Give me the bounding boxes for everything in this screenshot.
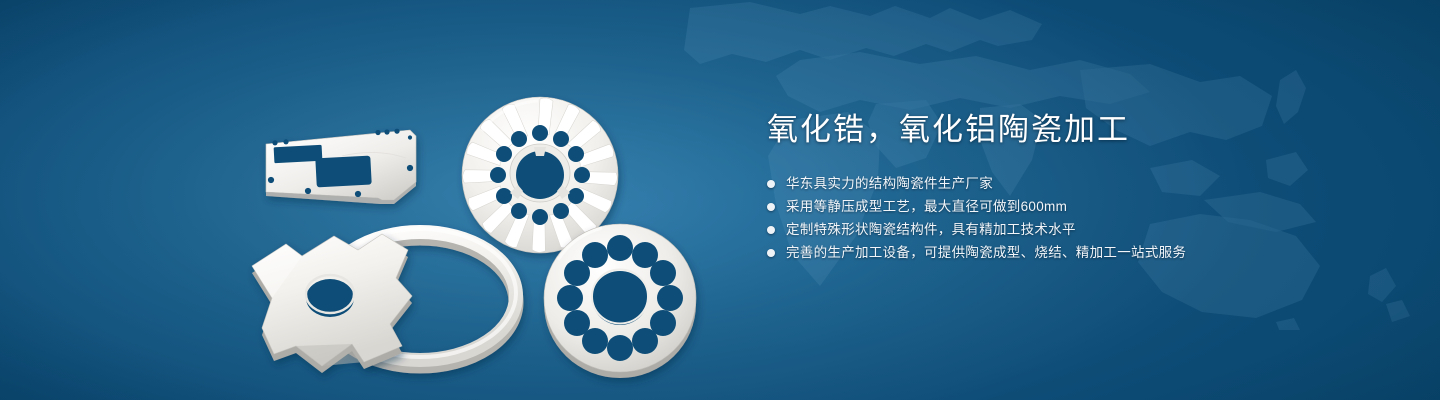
ceramic-parts-photo <box>230 40 720 385</box>
hero-banner: 氧化锆，氧化铝陶瓷加工 华东具实力的结构陶瓷件生产厂家 采用等静压成型工艺，最大… <box>0 0 1440 400</box>
list-item: 定制特殊形状陶瓷结构件，具有精加工技术水平 <box>767 219 1387 241</box>
ceramic-cross-plate-part <box>252 234 412 373</box>
list-item: 完善的生产加工设备，可提供陶瓷成型、烧结、精加工一站式服务 <box>767 242 1387 264</box>
ceramic-plate-part <box>266 129 416 204</box>
feature-text: 完善的生产加工设备，可提供陶瓷成型、烧结、精加工一站式服务 <box>786 242 1186 264</box>
ceramic-perforated-disc-part <box>544 224 696 378</box>
feature-text: 采用等静压成型工艺，最大直径可做到600mm <box>786 196 1067 218</box>
bullet-dot-icon <box>767 203 775 211</box>
feature-list: 华东具实力的结构陶瓷件生产厂家 采用等静压成型工艺，最大直径可做到600mm 定… <box>767 173 1387 264</box>
feature-text: 定制特殊形状陶瓷结构件，具有精加工技术水平 <box>786 219 1076 241</box>
list-item: 华东具实力的结构陶瓷件生产厂家 <box>767 173 1387 195</box>
list-item: 采用等静压成型工艺，最大直径可做到600mm <box>767 196 1387 218</box>
feature-text: 华东具实力的结构陶瓷件生产厂家 <box>786 173 993 195</box>
bullet-dot-icon <box>767 180 775 188</box>
page-title: 氧化锆，氧化铝陶瓷加工 <box>767 110 1387 150</box>
banner-copy: 氧化锆，氧化铝陶瓷加工 华东具实力的结构陶瓷件生产厂家 采用等静压成型工艺，最大… <box>767 110 1387 265</box>
bullet-dot-icon <box>767 226 775 234</box>
bullet-dot-icon <box>767 249 775 257</box>
